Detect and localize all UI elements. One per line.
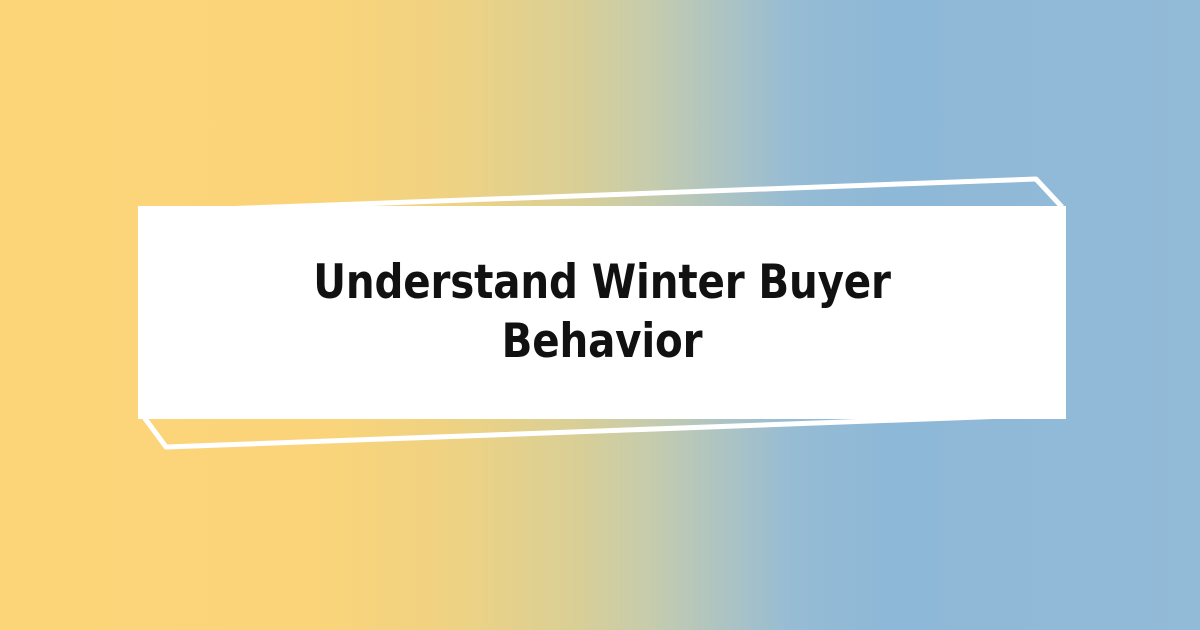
content-card: Understand Winter Buyer Behavior: [138, 206, 1066, 419]
card-title: Understand Winter Buyer Behavior: [237, 254, 966, 371]
banner-image: Understand Winter Buyer Behavior: [0, 0, 1200, 630]
